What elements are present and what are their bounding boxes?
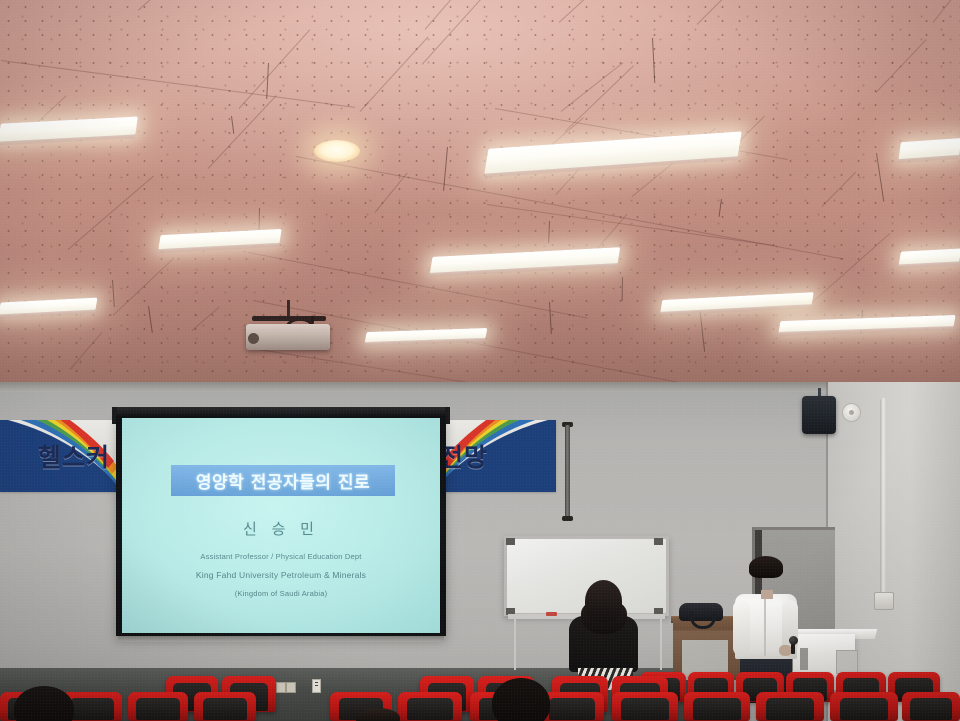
wall-soffit-band <box>0 382 960 392</box>
presenter-left-sleeve <box>733 600 750 656</box>
attendee-pixelated-face <box>589 586 617 619</box>
whiteboard-corner-tr <box>654 538 663 545</box>
seat-cushion <box>766 698 815 721</box>
wall-mounted-pole <box>565 425 570 519</box>
banner-text-left: 헬스커 <box>38 438 110 474</box>
auditorium-seat <box>684 692 750 721</box>
seat-cushion <box>549 698 595 721</box>
wall-outlet-3 <box>286 682 296 693</box>
slide-presenter-name: 신 승 민 <box>122 518 440 539</box>
auditorium-seat <box>128 692 188 721</box>
auditorium-seat <box>830 692 898 721</box>
seat-cushion <box>840 698 889 721</box>
slide-affiliation-line-3: (Kingdom of Saudi Arabia) <box>122 589 440 598</box>
lectern-side-slot <box>800 648 808 670</box>
handheld-microphone-body <box>791 644 795 654</box>
seat-cushion <box>407 698 453 721</box>
auditorium-seat <box>902 692 960 721</box>
seat-cushion <box>621 698 669 721</box>
pole-bottom-cap <box>562 516 573 521</box>
audience-head-3 <box>356 708 400 721</box>
smoke-detector-icon <box>842 403 861 422</box>
slide-title-bar: 영양학 전공자들의 진로 <box>171 465 395 496</box>
acoustic-tile-ceiling <box>0 0 960 392</box>
seat-cushion <box>136 698 179 721</box>
seat-cushion <box>693 698 741 721</box>
slide-affiliation-line-2: King Fahd University Petroleum & Mineral… <box>122 570 440 580</box>
presenter-hair <box>749 556 783 578</box>
whiteboard-corner-tl <box>506 538 515 545</box>
whiteboard-leg-left <box>514 616 516 670</box>
whiteboard-marker <box>546 612 557 616</box>
presenter-shirt-placket <box>764 596 766 656</box>
whiteboard-leg-right <box>660 616 662 670</box>
screen-bottom-weight-bar <box>118 636 444 642</box>
audience-head-2 <box>492 678 550 721</box>
auditorium-seat <box>612 692 678 721</box>
conduit-junction-box <box>874 592 894 610</box>
recessed-downlight <box>314 140 360 162</box>
projection-screen: 영양학 전공자들의 진로 신 승 민 Assistant Professor /… <box>116 407 446 639</box>
wall-switch-box <box>312 679 321 693</box>
lecture-hall-photo: 헬스커 전망 영양학 전공자들의 진로 신 승 민 Assistant Prof… <box>0 0 960 721</box>
strip-light-9 <box>899 248 960 265</box>
seat-cushion <box>70 698 113 721</box>
wall-speaker <box>802 396 836 434</box>
auditorium-seat <box>194 692 256 721</box>
auditorium-seat <box>398 692 462 721</box>
seat-cushion <box>203 698 248 721</box>
seat-cushion <box>910 698 952 721</box>
wall-conduit-pipe <box>880 398 887 594</box>
slide-affiliation-line-1: Assistant Professor / Physical Education… <box>122 552 440 561</box>
lectern-control-panel <box>836 650 858 674</box>
slide-surface: 영양학 전공자들의 진로 신 승 민 Assistant Professor /… <box>122 418 440 633</box>
auditorium-seat <box>756 692 824 721</box>
slide-title-text: 영양학 전공자들의 진로 <box>196 468 370 493</box>
wall-outlet-2 <box>276 682 286 693</box>
projector-lens <box>248 333 259 344</box>
ceiling-projector <box>246 324 330 350</box>
banner-text-right: 전망 <box>440 438 488 474</box>
strip-light-10 <box>898 138 960 160</box>
